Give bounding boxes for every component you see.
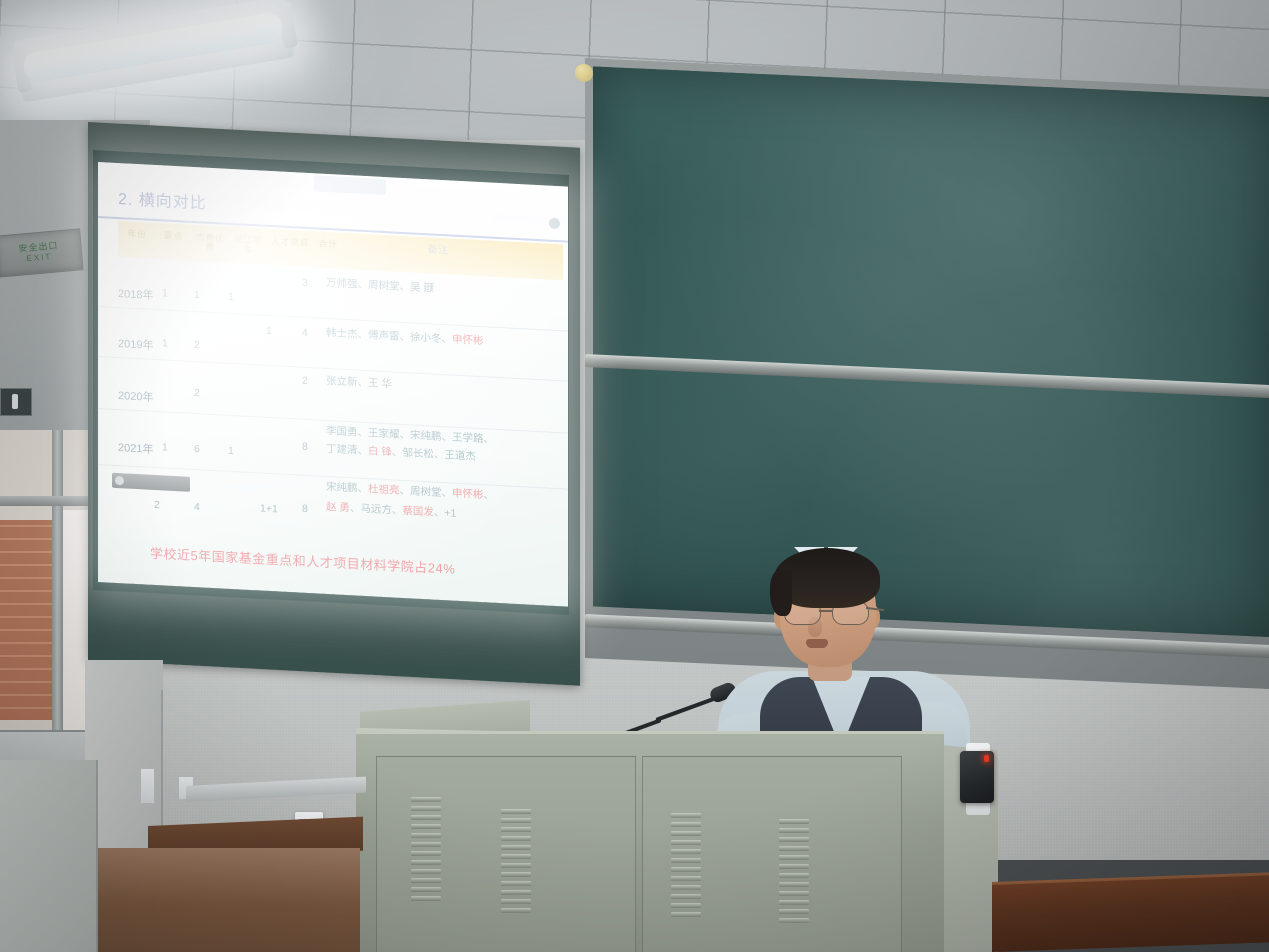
row-c1: 1 [162,441,168,453]
presenter-hair [774,548,880,608]
row-c1: 2 [154,499,160,511]
slide-corner-dot-icon [549,218,560,230]
col-header-talent: 人才项目 [270,237,310,249]
row-c1: 1 [162,287,168,299]
row-c4: 1 [266,325,272,337]
chalkboard-knob [575,64,593,83]
card-reader-icon[interactable] [960,745,998,813]
row-c2: 2 [194,339,200,351]
row-year: 2021年 [118,439,153,457]
wall-sign-icon [0,388,32,416]
row-c3: 1 [228,291,234,303]
podium-door-right[interactable] [642,756,902,952]
podium-vent-4 [779,819,809,939]
row-total: 3 [302,277,308,289]
screen-overlay-badge [112,473,190,492]
row-c2: 4 [194,501,200,513]
col-header-year: 年份 [122,229,152,240]
row-total: 8 [302,441,308,453]
podium-vent-2 [501,809,531,929]
slide-title: 2. 横向对比 [118,185,207,214]
slide-table-body: 2018年 1 1 1 3 万师强、周树堂、吴 颋 2019年 1 2 1 4 … [98,254,568,549]
col-header-jq: 杰青优青 [194,233,226,254]
podium-vent-3 [671,813,701,933]
presenter [736,545,950,760]
exit-sign: 安全出口 EXIT [0,228,84,277]
projection-screen: 2. 横向对比 年份 重点 杰青优青 长江学者 人才项目 合计 备注 2018年… [88,122,580,662]
podium-door-left[interactable] [376,756,636,952]
row-names: 张立新、王 华 [326,374,392,393]
lecture-hall-scene: 安全出口 EXIT 2. 横向对比 年份 重点 杰青优青 长江学者 人才项目 [0,0,1269,952]
light-switch-plate[interactable] [140,768,155,804]
row-c1: 1 [162,337,168,349]
row-c2: 6 [194,443,200,455]
row-year: 2019年 [118,335,153,353]
row-names: 万师强、周树堂、吴 颋 [326,276,434,297]
row-year: 2018年 [118,285,153,303]
left-door-panel[interactable] [0,760,98,952]
row-total: 2 [302,375,308,387]
lectern[interactable] [356,731,944,952]
presenter-mouth [806,639,828,648]
exit-sign-en: EXIT [26,251,53,264]
row-names: 韩士杰、傅声雷、徐小冬、申怀彬 [326,326,484,350]
status-led-icon [984,755,989,762]
presentation-slide[interactable]: 2. 横向对比 年份 重点 杰青优青 长江学者 人才项目 合计 备注 2018年… [98,162,568,607]
row-c2: 1 [194,289,200,301]
row-c3: 1 [228,445,234,457]
slide-footer-note: 学校近5年国家基金重点和人才项目材料学院占24% [150,543,455,578]
col-header-total: 合计 [314,239,342,250]
row-c2: 2 [194,387,200,399]
row-names-line2: 赵 勇、马远方、蔡国发、+1 [326,500,456,523]
window-mullion-left [52,430,63,760]
row-c4: 1+1 [260,502,278,515]
overlay-dot-icon [115,476,124,485]
col-header-key: 重点 [158,231,188,242]
col-header-cj: 长江学者 [232,235,264,256]
wooden-bench [992,875,1269,952]
row-year: 2020年 [118,387,153,405]
row-total: 8 [302,503,308,515]
podium-vent-1 [411,797,441,917]
col-header-remark: 备注 [418,245,458,258]
row-total: 4 [302,327,308,339]
